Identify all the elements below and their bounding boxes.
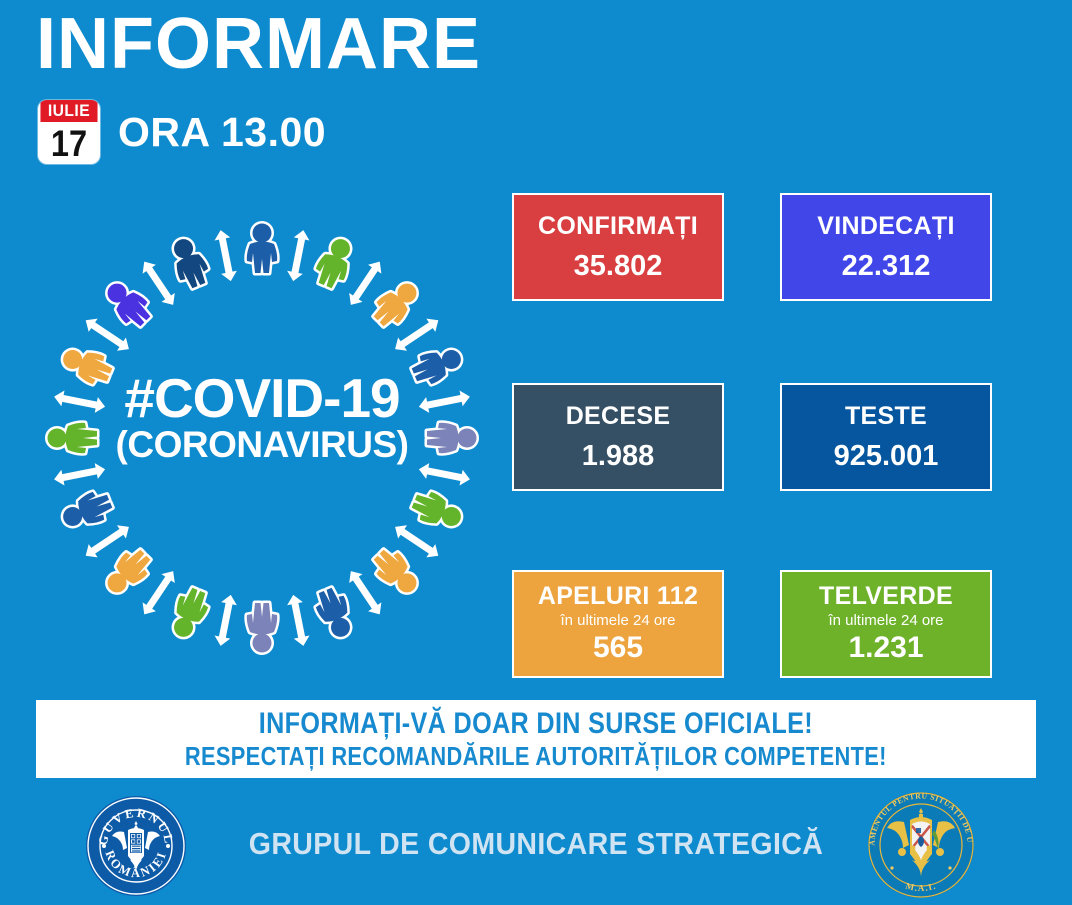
distance-arrow-icon bbox=[213, 593, 239, 647]
stat-label: TESTE bbox=[845, 403, 927, 431]
person-figure-icon bbox=[409, 487, 466, 534]
person-figure-icon bbox=[100, 544, 156, 600]
stat-card-vindecati: VINDECAȚI22.312 bbox=[780, 193, 992, 301]
distance-arrow-icon bbox=[213, 229, 239, 283]
dsu-seal-svg: DEPARTAMENTUL PENTRU SITUAȚII DE URGENȚĂ… bbox=[866, 790, 976, 900]
distance-arrow-icon bbox=[417, 389, 471, 415]
person-figure-icon bbox=[368, 276, 424, 332]
dsu-mai-seal-icon: DEPARTAMENTUL PENTRU SITUAȚII DE URGENȚĂ… bbox=[866, 790, 976, 905]
stat-label: TELVERDE bbox=[819, 583, 953, 611]
person-figure-icon bbox=[368, 544, 424, 600]
stat-card-apeluri-112: APELURI 112în ultimele 24 ore565 bbox=[512, 570, 724, 678]
person-figure-icon bbox=[409, 342, 466, 389]
distance-arrow-icon bbox=[417, 461, 471, 487]
stat-value: 1.988 bbox=[582, 442, 655, 471]
stat-card-telverde: TELVERDEîn ultimele 24 ore1.231 bbox=[780, 570, 992, 678]
stat-value: 1.231 bbox=[848, 633, 923, 663]
stat-label: VINDECAȚI bbox=[817, 213, 954, 241]
person-figure-icon bbox=[311, 585, 358, 642]
distance-arrow-icon bbox=[285, 229, 311, 283]
person-figure-icon bbox=[166, 585, 213, 642]
infographic-root: INFORMARE IULIE 17 ORA 13.00 #COVID-19 bbox=[0, 0, 1072, 900]
person-figure-icon bbox=[427, 423, 477, 453]
person-figure-icon bbox=[48, 423, 98, 453]
stat-note: în ultimele 24 ore bbox=[828, 612, 943, 629]
person-figure-icon bbox=[100, 276, 156, 332]
stat-note: în ultimele 24 ore bbox=[560, 612, 675, 629]
person-figure-icon bbox=[247, 224, 277, 274]
calendar-month: IULIE bbox=[40, 100, 97, 122]
report-hour: ORA 13.00 bbox=[118, 109, 326, 156]
official-sources-banner: INFORMAȚI-VĂ DOAR DIN SURSE OFICIALE! RE… bbox=[36, 700, 1036, 778]
circle-figures-svg bbox=[42, 218, 482, 658]
person-figure-icon bbox=[58, 342, 115, 389]
stat-value: 925.001 bbox=[834, 442, 939, 471]
stat-value: 35.802 bbox=[574, 252, 663, 281]
calendar-icon: IULIE 17 bbox=[38, 100, 100, 164]
page-title: INFORMARE bbox=[36, 8, 481, 80]
calendar-day: 17 bbox=[42, 122, 97, 164]
stat-label: APELURI 112 bbox=[538, 583, 698, 611]
stat-value: 22.312 bbox=[842, 252, 931, 281]
stat-card-teste: TESTE925.001 bbox=[780, 383, 992, 491]
stat-card-decese: DECESE1.988 bbox=[512, 383, 724, 491]
stat-card-confirmati: CONFIRMAȚI35.802 bbox=[512, 193, 724, 301]
distance-arrow-icon bbox=[285, 593, 311, 647]
person-figure-icon bbox=[58, 487, 115, 534]
date-bar: IULIE 17 ORA 13.00 bbox=[38, 100, 326, 164]
stat-value: 565 bbox=[593, 633, 643, 663]
stat-label: DECESE bbox=[566, 403, 671, 431]
distance-arrow-icon bbox=[53, 461, 107, 487]
banner-line-1: INFORMAȚI-VĂ DOAR DIN SURSE OFICIALE! bbox=[259, 708, 813, 740]
distance-arrow-icon bbox=[53, 389, 107, 415]
social-distancing-circle-icon: #COVID-19 (CORONAVIRUS) bbox=[42, 218, 482, 658]
person-figure-icon bbox=[166, 234, 213, 291]
stat-label: CONFIRMAȚI bbox=[538, 213, 698, 241]
person-figure-icon bbox=[247, 603, 277, 653]
person-figure-icon bbox=[311, 234, 358, 291]
banner-line-2: RESPECTAȚI RECOMANDĂRILE AUTORITĂȚILOR C… bbox=[185, 742, 887, 771]
